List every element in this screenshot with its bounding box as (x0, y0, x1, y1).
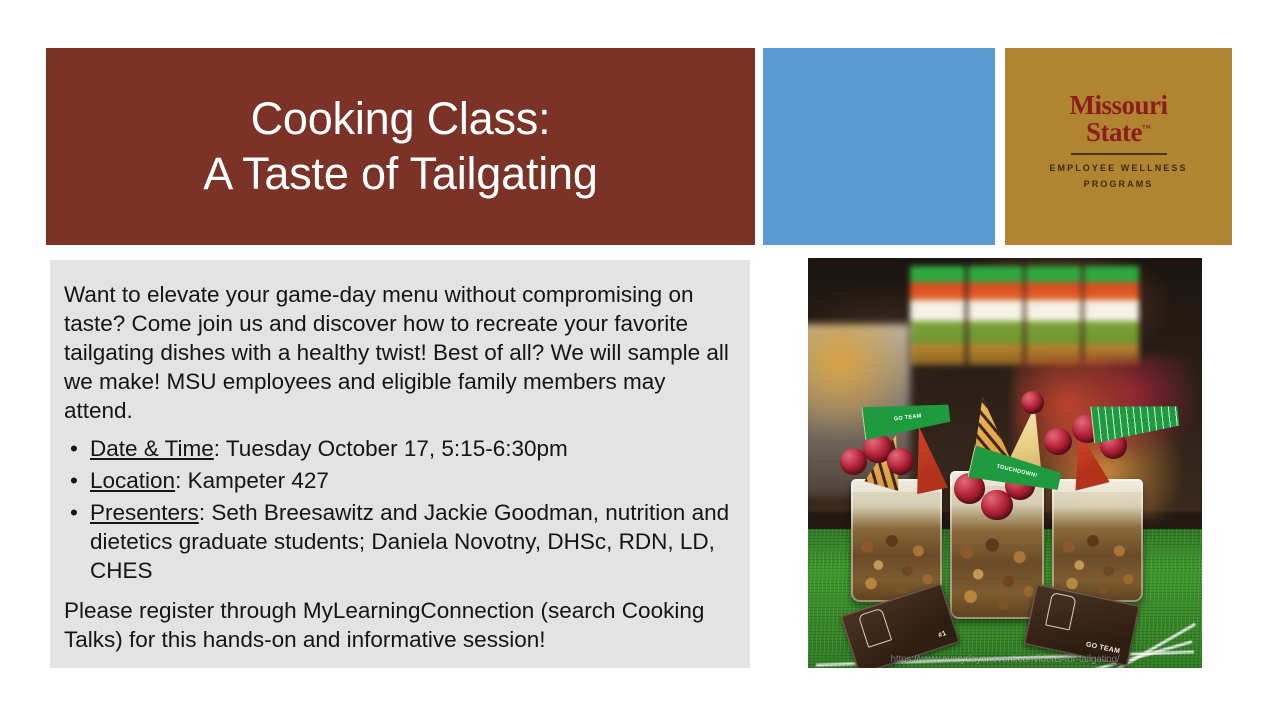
trademark-icon: ™ (1142, 123, 1151, 133)
blue-accent-block (763, 48, 995, 245)
pointing-finger-icon (1045, 592, 1077, 631)
bullet-label-location: Location (90, 468, 175, 493)
background-parfait (1026, 266, 1081, 364)
page-title: Cooking Class: A Taste of Tailgating (203, 92, 597, 202)
tailgating-photo: GO TEAM TOUCHDOWN! #1 GO TEAM https://ww… (808, 258, 1202, 668)
logo-subtitle-line-2: PROGRAMS (1005, 177, 1232, 193)
slide-canvas: Cooking Class: A Taste of Tailgating Mis… (0, 0, 1280, 720)
background-parfait (910, 266, 965, 364)
pennant-flag-label: TOUCHDOWN! (995, 464, 1037, 479)
mason-jar (1052, 479, 1143, 602)
list-item-presenters: Presenters: Seth Breesawitz and Jackie G… (64, 498, 734, 585)
body-text-panel: Want to elevate your game-day menu witho… (50, 260, 750, 668)
logo-inner: Missouri State™ EMPLOYEE WELLNESS PROGRA… (1005, 92, 1232, 192)
cookie-label: #1 (938, 630, 948, 639)
missouri-state-wordmark: Missouri State™ (1005, 92, 1232, 145)
bullet-value-location: : Kampeter 427 (175, 468, 329, 493)
bullet-label-presenters: Presenters (90, 500, 199, 525)
bullet-value-date-time: : Tuesday October 17, 5:15-6:30pm (214, 436, 568, 461)
pointing-finger-icon (858, 608, 893, 648)
logo-subtitle: EMPLOYEE WELLNESS PROGRAMS (1005, 161, 1232, 193)
wordmark-line-2: State™ (1005, 119, 1232, 145)
details-bullet-list: Date & Time: Tuesday October 17, 5:15-6:… (64, 434, 734, 585)
logo-block: Missouri State™ EMPLOYEE WELLNESS PROGRA… (1005, 48, 1232, 245)
grape (1044, 428, 1072, 455)
photo-scene: GO TEAM TOUCHDOWN! #1 GO TEAM https://ww… (808, 258, 1202, 668)
pennant-flag-label: GO TEAM (894, 413, 922, 422)
list-item-date-time: Date & Time: Tuesday October 17, 5:15-6:… (64, 434, 734, 463)
closing-paragraph: Please register through MyLearningConnec… (64, 596, 734, 654)
bullet-label-date-time: Date & Time (90, 436, 214, 461)
logo-subtitle-line-1: EMPLOYEE WELLNESS (1005, 161, 1232, 177)
wordmark-line-2-text: State (1086, 117, 1142, 147)
list-item-location: Location: Kampeter 427 (64, 466, 734, 495)
background-parfait (1084, 266, 1139, 364)
trail-mix-fill (950, 533, 1045, 619)
cookie-label: GO TEAM (1085, 641, 1120, 655)
background-parfait (968, 266, 1023, 364)
grape (1021, 391, 1045, 414)
logo-divider (1071, 153, 1167, 155)
background-parfait-row (910, 266, 1139, 364)
mason-jar (851, 479, 942, 602)
title-banner: Cooking Class: A Taste of Tailgating (46, 48, 755, 245)
intro-paragraph: Want to elevate your game-day menu witho… (64, 280, 734, 425)
